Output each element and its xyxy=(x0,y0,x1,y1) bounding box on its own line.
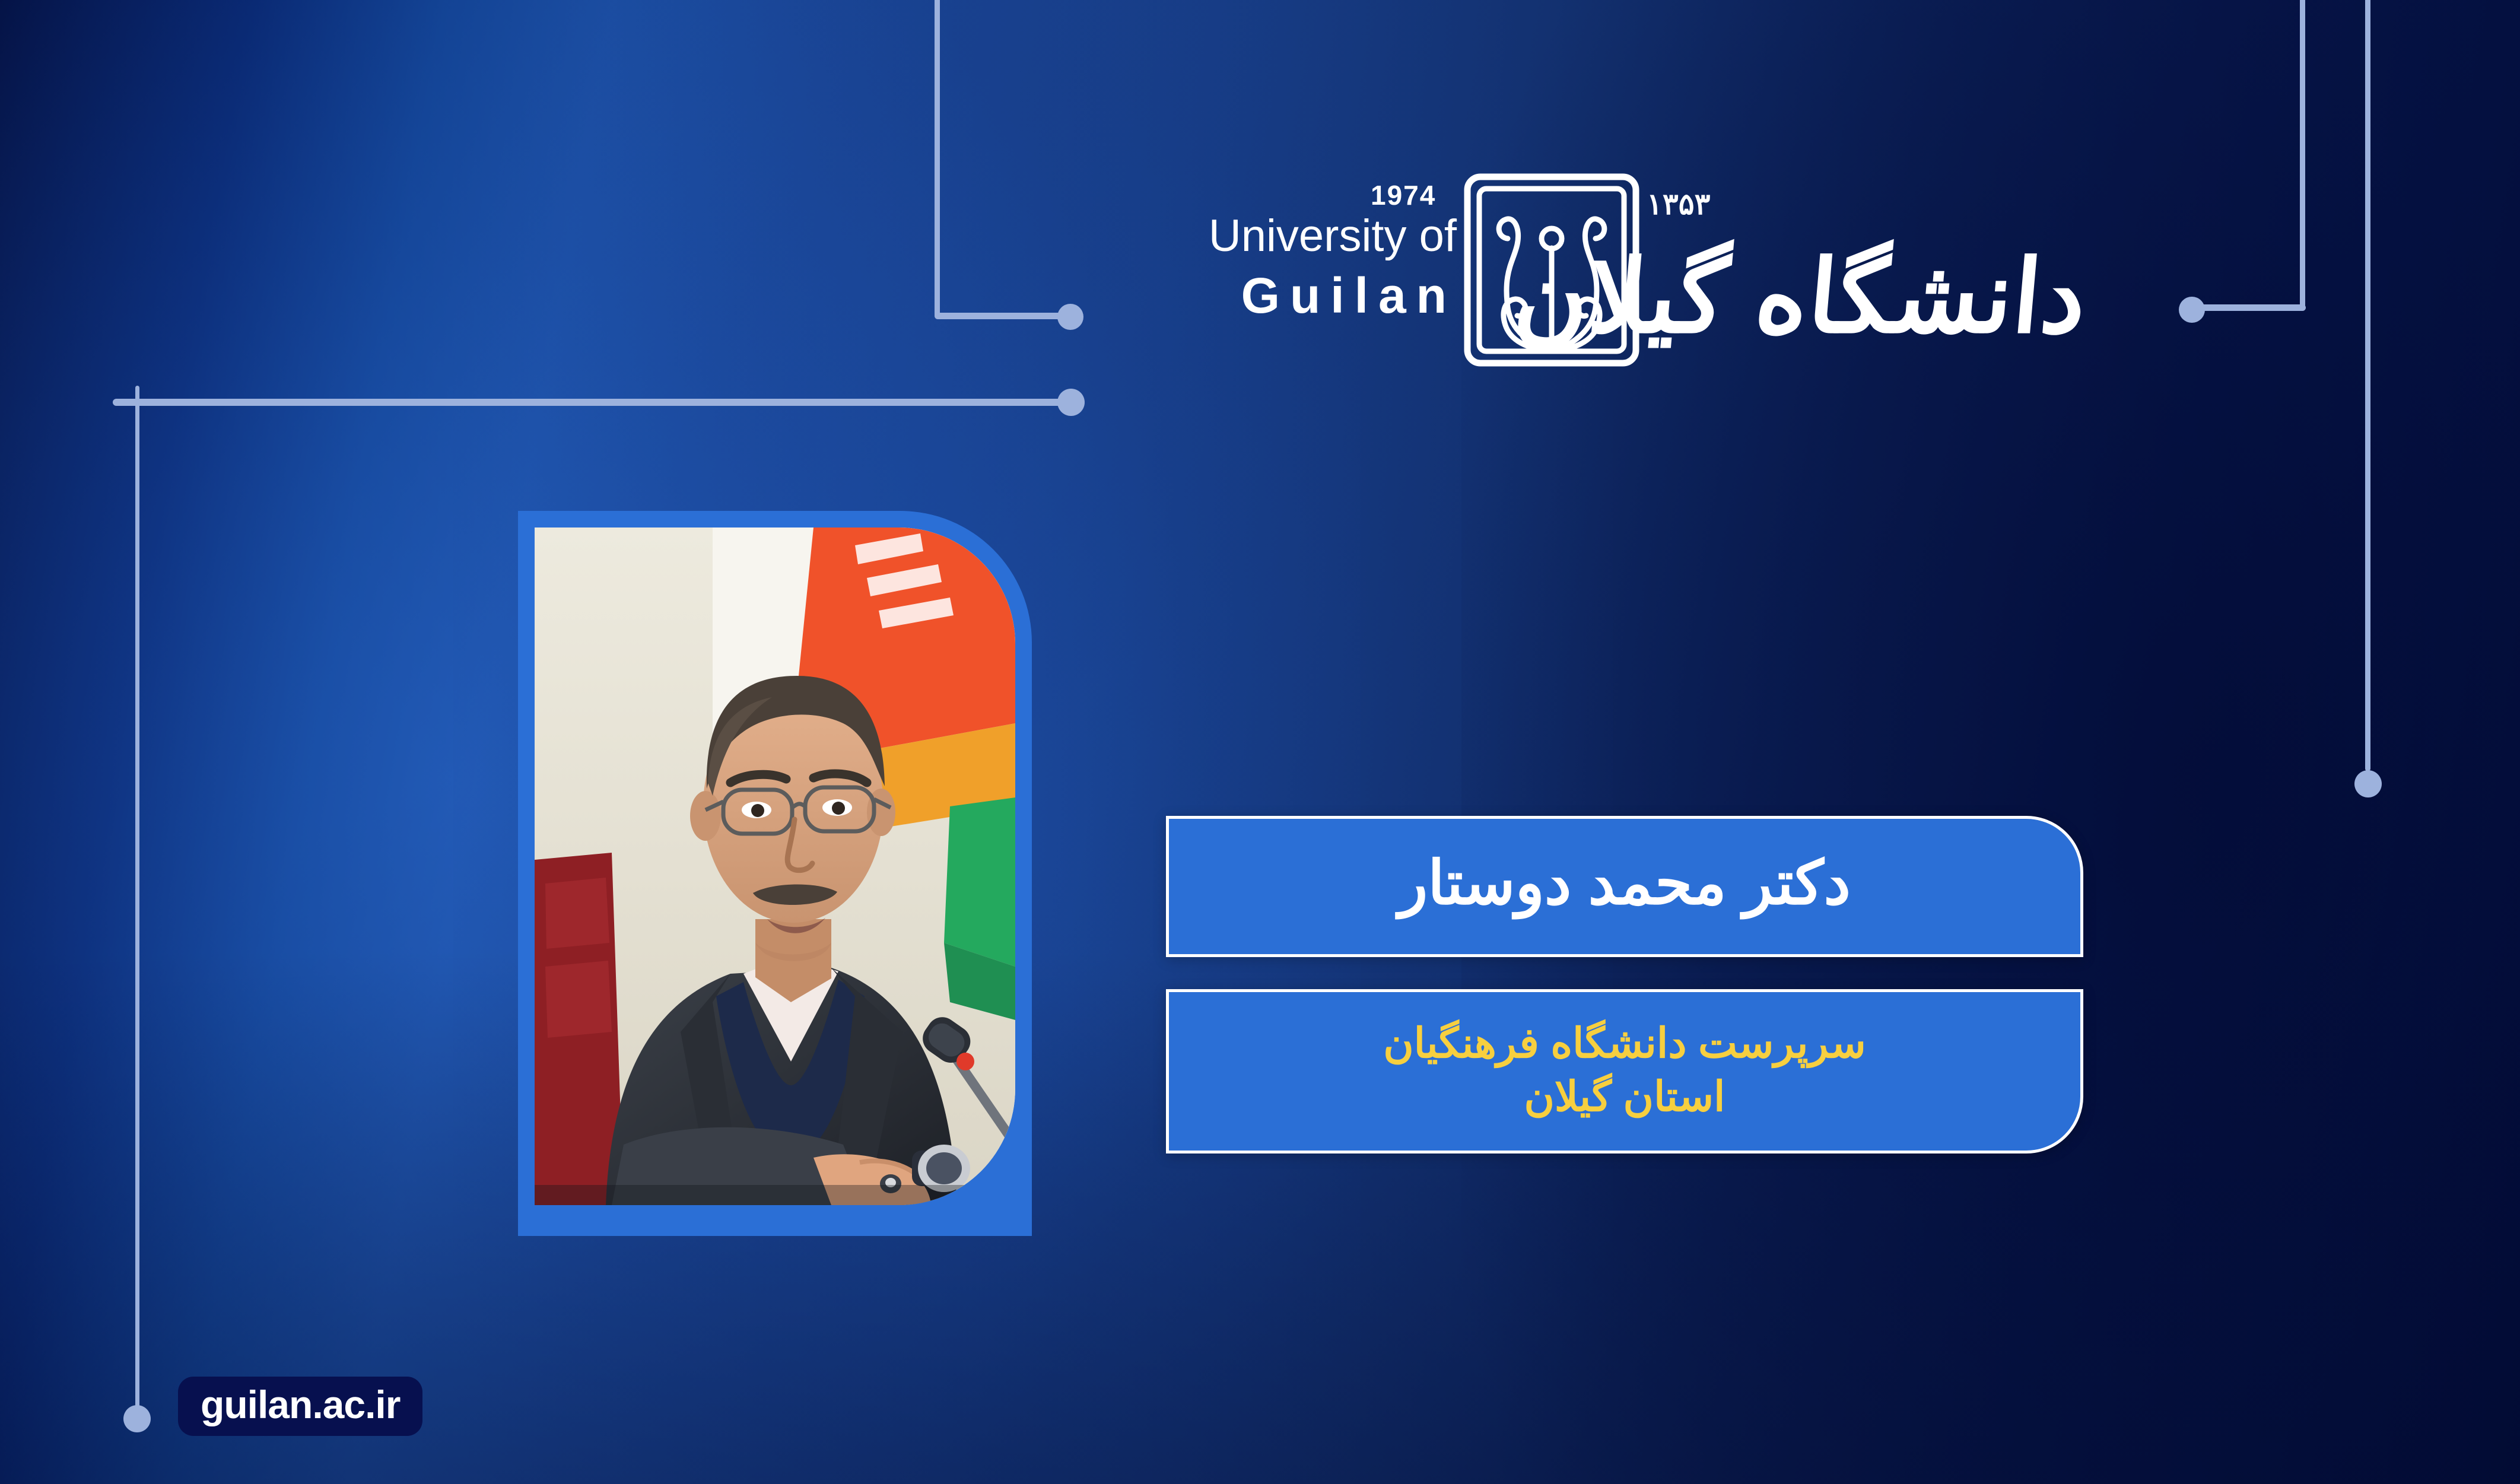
decor-line-left-vertical xyxy=(135,386,139,1418)
decor-line-left-horizontal xyxy=(113,399,1068,406)
decor-dot-left-horizontal-end xyxy=(1057,389,1085,416)
logo-persian-wordmark: دانشگاه گیلان xyxy=(1629,172,2086,368)
person-title-line2: استان گیلان xyxy=(1383,1070,1866,1124)
decor-line-upper-horizontal xyxy=(935,313,1074,319)
university-logo: University of Guilan 1974 ۱۳۵۳ دانشگاه گ… xyxy=(1160,196,2086,374)
portrait-photo-frame xyxy=(518,511,1032,1236)
logo-university-of: University of xyxy=(1160,214,1457,259)
decor-dot-farright-end xyxy=(2354,770,2382,797)
website-url-badge[interactable]: guilan.ac.ir xyxy=(178,1377,422,1436)
banner-canvas: University of Guilan 1974 ۱۳۵۳ دانشگاه گ… xyxy=(0,0,2520,1484)
logo-english-text: University of Guilan xyxy=(1160,214,1457,320)
logo-persian-name: دانشگاه گیلان xyxy=(1510,247,2090,348)
decor-dot-right-end xyxy=(2179,297,2205,323)
portrait-photo xyxy=(535,527,1015,1205)
person-name: دکتر محمد دوستار xyxy=(1399,848,1851,919)
decor-dot-left-bottom xyxy=(123,1405,151,1432)
person-title: سرپرست دانشگاه فرهنگیان استان گیلان xyxy=(1383,1017,1866,1123)
portrait-illustration xyxy=(535,527,1015,1205)
logo-year-gregorian: 1974 xyxy=(1371,179,1436,211)
person-title-line1: سرپرست دانشگاه فرهنگیان xyxy=(1383,1017,1866,1070)
person-name-banner: دکتر محمد دوستار xyxy=(1166,816,2083,957)
decor-dot-upper-end xyxy=(1057,304,1083,330)
website-url: guilan.ac.ir xyxy=(201,1383,400,1426)
decor-line-right-horizontal xyxy=(2189,304,2306,311)
logo-guilan: Guilan xyxy=(1160,271,1457,320)
person-title-banner: سرپرست دانشگاه فرهنگیان استان گیلان xyxy=(1166,989,2083,1153)
decor-line-upper-vertical xyxy=(935,0,940,317)
decor-line-right-vertical xyxy=(2300,0,2305,309)
decor-line-farright-vertical xyxy=(2365,0,2370,771)
